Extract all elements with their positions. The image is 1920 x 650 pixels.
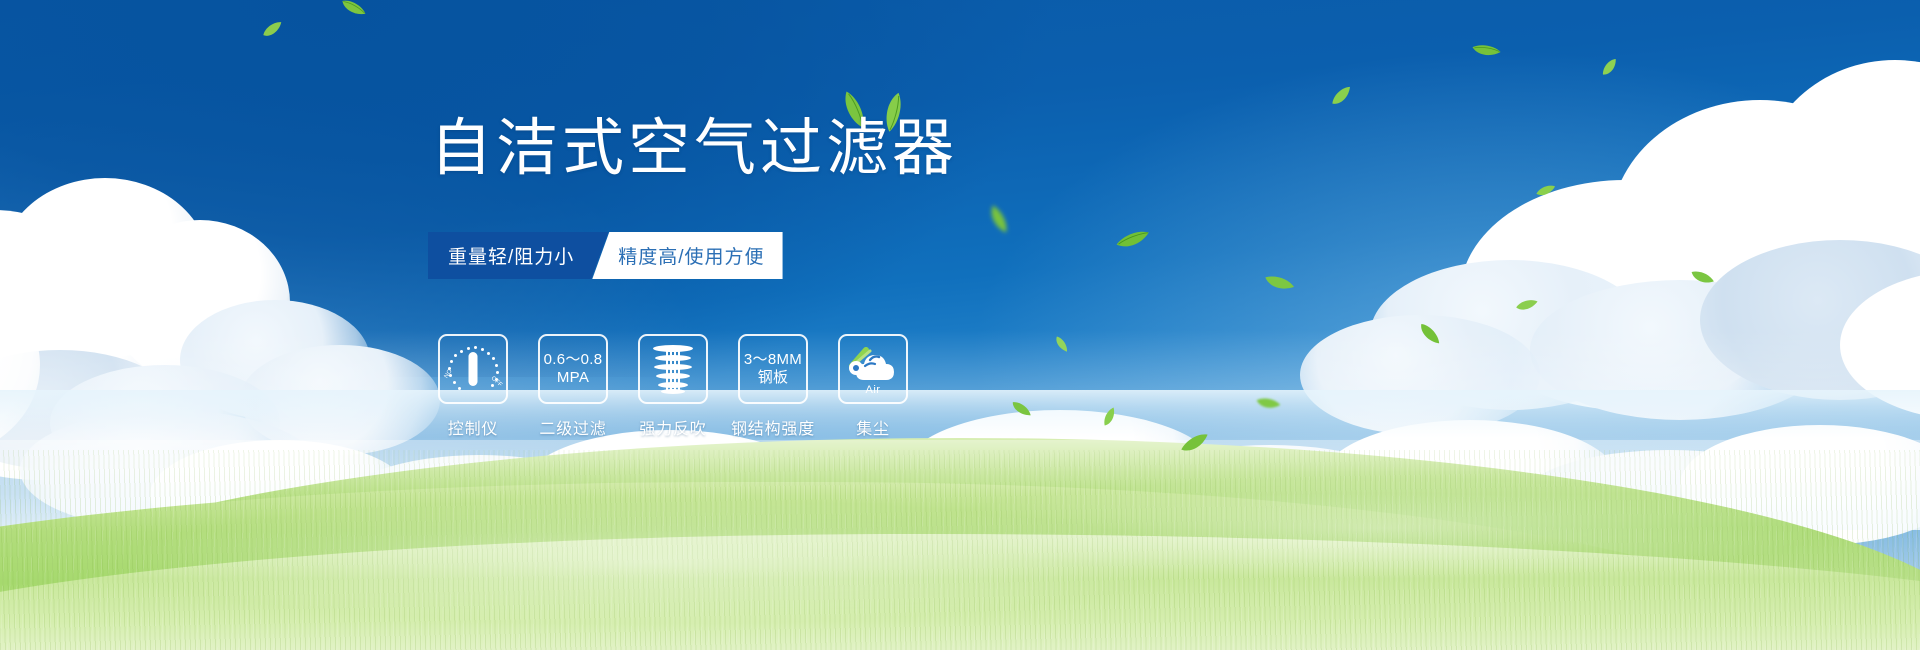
gauge-icon: NO OFF — [445, 344, 501, 394]
steel-thickness: 3～8MM — [744, 351, 802, 369]
feature-list: NO OFF 控制仪 0.6～0.8 MPA 二级过滤 — [438, 334, 908, 439]
tagline-tabs: 重量轻/阻力小 精度高/使用方便 — [428, 232, 783, 279]
feature-box-steel: 3～8MM 钢板 — [738, 334, 808, 404]
feature-label-steel: 钢结构强度 — [731, 415, 815, 439]
air-cloud-icon: Air — [844, 344, 902, 394]
feature-item-dust[interactable]: Air 集尘 — [838, 334, 908, 439]
feature-item-pressure[interactable]: 0.6～0.8 MPA 二级过滤 — [538, 334, 608, 439]
banner-content: 自洁式空气过滤器 重量轻/阻力小 精度高/使用方便 — [0, 0, 1920, 650]
steel-material: 钢板 — [744, 369, 802, 387]
cloud-shape — [844, 346, 902, 382]
pressure-range: 0.6～0.8 — [544, 351, 603, 369]
air-label: Air — [844, 384, 902, 396]
feature-label-controller: 控制仪 — [448, 415, 498, 439]
feature-label-dust: 集尘 — [856, 415, 890, 439]
pressure-unit: MPA — [544, 369, 603, 387]
tagline-tab-primary[interactable]: 重量轻/阻力小 — [428, 232, 608, 279]
feature-box-dust: Air — [838, 334, 908, 404]
feature-item-steel[interactable]: 3～8MM 钢板 钢结构强度 — [738, 334, 808, 439]
feature-box-pressure: 0.6～0.8 MPA — [538, 334, 608, 404]
page-title: 自洁式空气过滤器 — [430, 118, 958, 180]
product-banner: 自洁式空气过滤器 重量轻/阻力小 精度高/使用方便 — [0, 0, 1920, 650]
feature-label-backblow: 强力反吹 — [639, 415, 706, 439]
feature-item-controller[interactable]: NO OFF 控制仪 — [438, 334, 508, 439]
tagline-tab-secondary[interactable]: 精度高/使用方便 — [592, 232, 782, 279]
feature-item-backblow[interactable]: 强力反吹 — [638, 334, 708, 439]
gauge-label-on: NO — [444, 368, 454, 379]
feature-box-controller: NO OFF — [438, 334, 508, 404]
feature-box-backblow — [638, 334, 708, 404]
filter-stack-icon — [651, 344, 695, 394]
feature-label-pressure: 二级过滤 — [539, 415, 606, 439]
steel-text: 3～8MM 钢板 — [744, 351, 802, 386]
pressure-text: 0.6～0.8 MPA — [544, 351, 603, 386]
